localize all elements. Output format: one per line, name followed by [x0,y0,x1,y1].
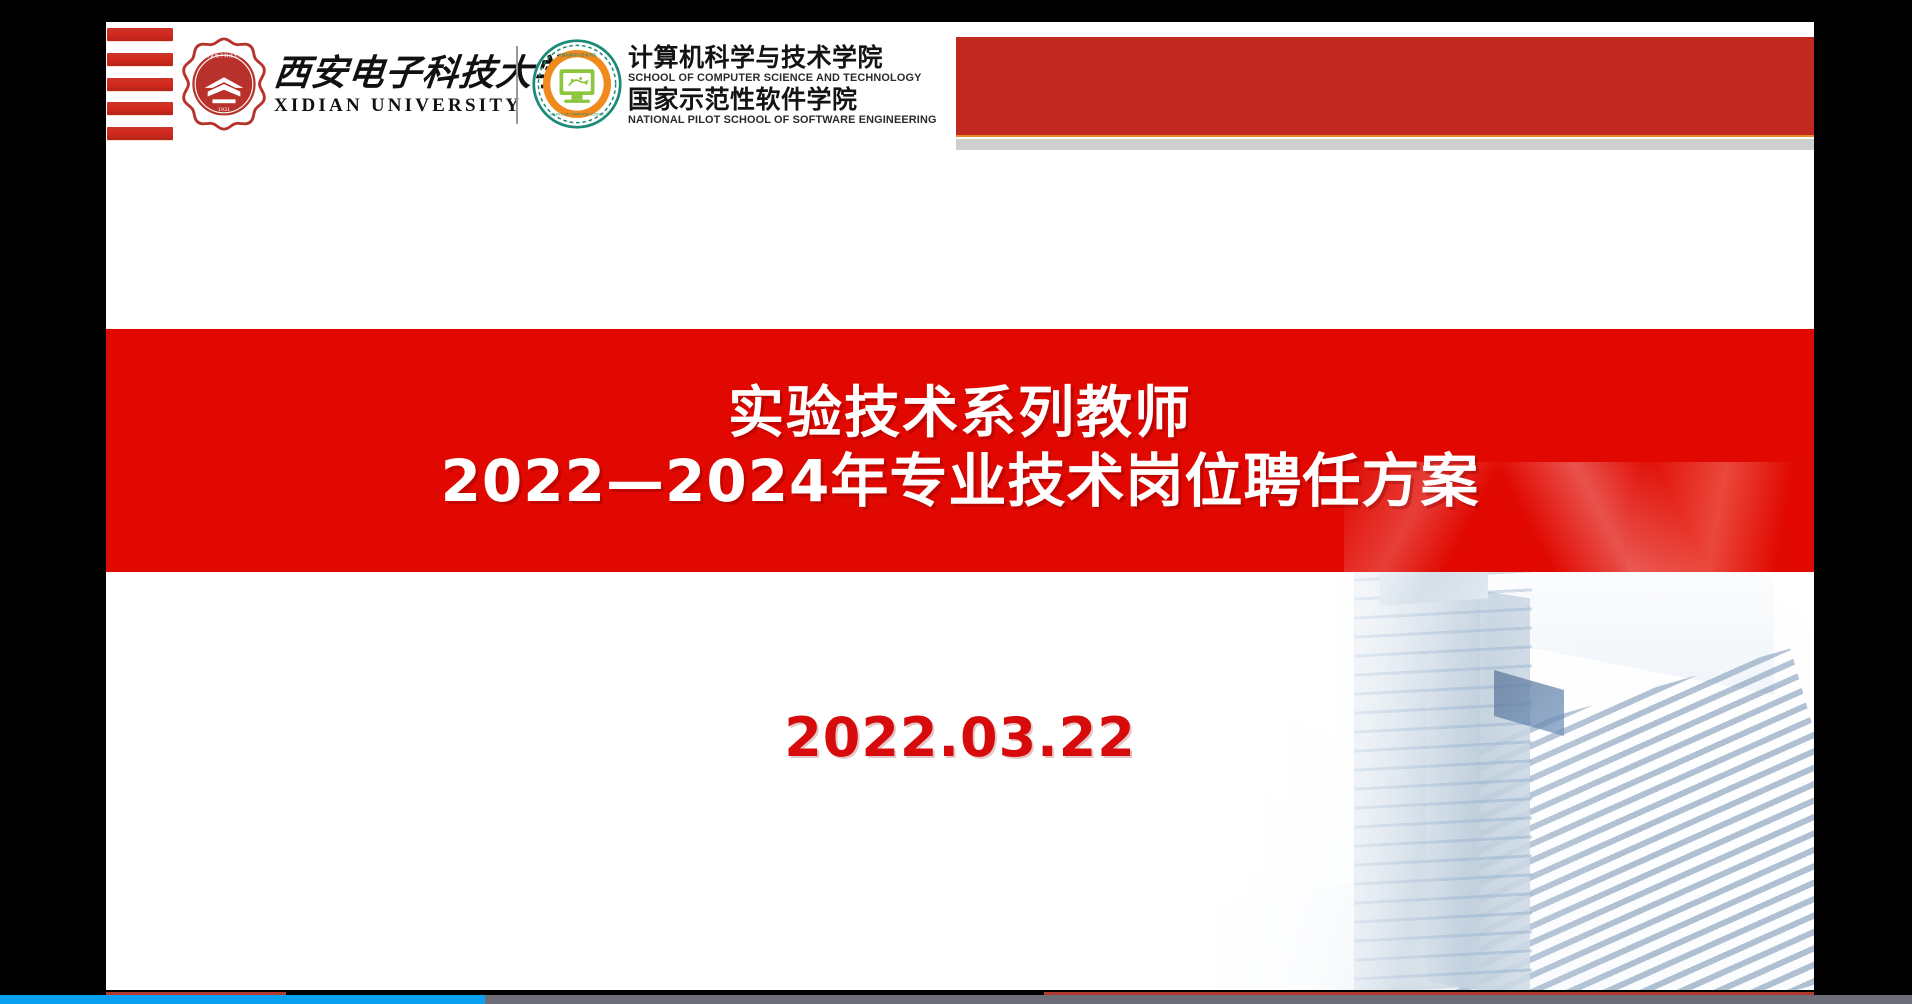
video-player-controls[interactable] [0,990,1912,1004]
progress-bar-fill [0,995,485,1004]
svg-text:SCHOOL OF COMPUTER SCIENCE: SCHOOL OF COMPUTER SCIENCE [550,112,604,116]
svg-text:西安电子科技大学: 西安电子科技大学 [205,52,243,59]
video-player-screen: 1931 XIDIAN UNIVERSITY 西安电子科技大学 西安电子科技大学… [0,0,1912,1004]
school-name-cn-line1: 计算机科学与技术学院 [628,44,948,72]
stripe-1 [107,28,173,41]
svg-text:计算机科学与技术学院: 计算机科学与技术学院 [558,52,597,57]
school-name-en-line1: SCHOOL OF COMPUTER SCIENCE AND TECHNOLOG… [628,72,945,86]
title-line-1: 实验技术系列教师 [728,381,1192,447]
school-of-computer-science-crest-icon: 计算机科学与技术学院 SCHOOL OF COMPUTER SCIENCE [531,38,623,130]
stripe-3 [107,78,173,91]
presentation-slide: 1931 XIDIAN UNIVERSITY 西安电子科技大学 西安电子科技大学… [106,22,1814,990]
xidian-wordmark: 西安电子科技大学 XIDIAN UNIVERSITY [274,46,504,126]
stripe-2 [107,53,173,66]
title-line-2: 2022—2024年专业技术岗位聘任方案 [441,447,1480,515]
logo-divider [516,46,518,124]
slide-date: 2022.03.22 [106,706,1814,769]
school-wordmark: 计算机科学与技术学院 SCHOOL OF COMPUTER SCIENCE AN… [628,38,948,134]
progress-bar-track[interactable] [0,995,1912,1004]
school-name-cn-line2: 国家示范性软件学院 [628,86,948,114]
header-red-banner [956,37,1814,137]
slide-header: 1931 XIDIAN UNIVERSITY 西安电子科技大学 西安电子科技大学… [106,22,1814,142]
stripe-5 [107,127,173,140]
xidian-name-en: XIDIAN UNIVERSITY [274,95,504,117]
xidian-name-cn: 西安电子科技大学 [272,55,506,93]
xidian-university-crest-icon: 1931 XIDIAN UNIVERSITY 西安电子科技大学 [176,36,272,132]
svg-text:1931: 1931 [218,107,230,113]
school-name-en-line2: NATIONAL PILOT SCHOOL OF SOFTWARE ENGINE… [628,114,945,128]
slide-title: 实验技术系列教师 2022—2024年专业技术岗位聘任方案 [106,329,1814,572]
header-banner-shadow [956,139,1814,150]
red-stripes-decoration [107,28,173,140]
title-red-band: 实验技术系列教师 2022—2024年专业技术岗位聘任方案 [106,329,1814,572]
stripe-4 [107,102,173,115]
svg-text:XIDIAN UNIVERSITY: XIDIAN UNIVERSITY [198,115,251,121]
